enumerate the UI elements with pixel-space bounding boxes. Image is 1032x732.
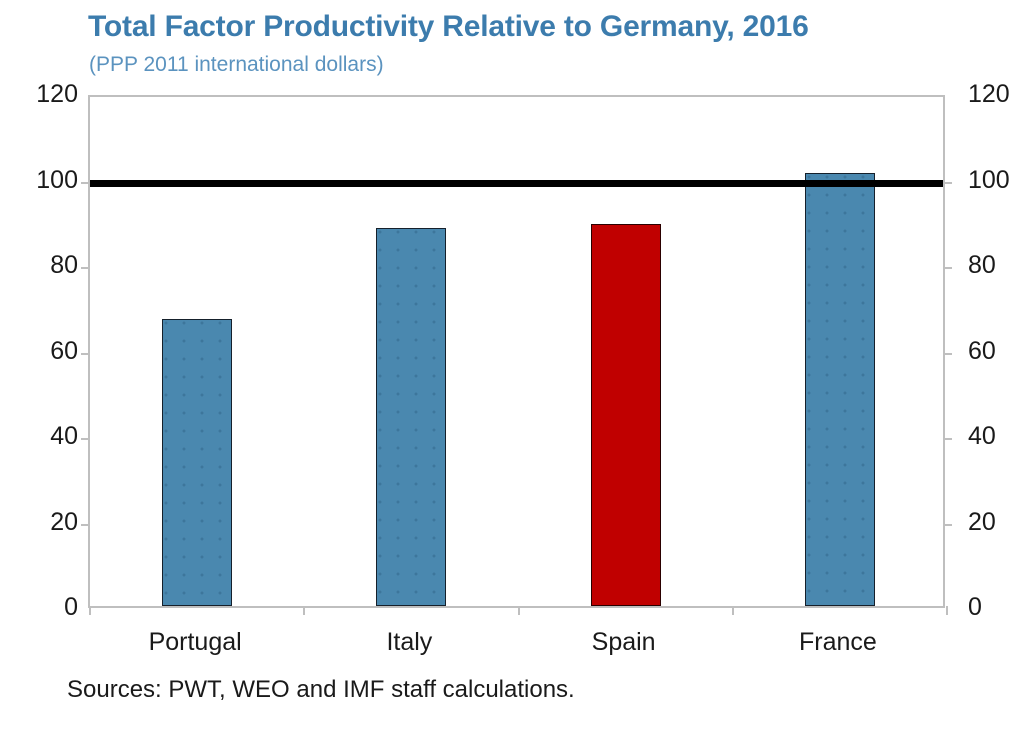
y-axis-tick-right <box>943 353 952 355</box>
y-axis-right: 020406080100120 <box>968 95 1032 608</box>
bar-france <box>805 173 875 606</box>
y-axis-tick-left <box>81 182 90 184</box>
x-tick-label-france: France <box>799 628 877 657</box>
x-axis-tick <box>89 606 91 615</box>
x-axis-tick <box>946 606 948 615</box>
y-axis-tick-right <box>943 182 952 184</box>
y-axis-tick-right <box>943 267 952 269</box>
y-tick-label-left-120: 120 <box>36 82 78 107</box>
y-axis-tick-left <box>81 524 90 526</box>
y-tick-label-left-80: 80 <box>50 253 78 278</box>
reference-line-100 <box>90 180 943 187</box>
x-tick-label-portugal: Portugal <box>149 628 242 657</box>
y-tick-label-right-120: 120 <box>968 82 1010 107</box>
plot-area <box>88 95 945 608</box>
y-axis-tick-right <box>943 524 952 526</box>
bar-portugal <box>162 319 232 606</box>
source-note: Sources: PWT, WEO and IMF staff calculat… <box>67 676 575 704</box>
y-tick-label-left-100: 100 <box>36 168 78 193</box>
plot-inner <box>90 97 943 606</box>
y-tick-label-right-20: 20 <box>968 510 996 535</box>
bar-spain <box>591 224 661 606</box>
x-tick-label-italy: Italy <box>386 628 432 657</box>
x-axis-tick <box>732 606 734 615</box>
y-axis-tick-left <box>81 353 90 355</box>
chart-subtitle: (PPP 2011 international dollars) <box>89 53 384 77</box>
y-tick-label-right-40: 40 <box>968 424 996 449</box>
y-tick-label-left-0: 0 <box>64 595 78 620</box>
y-tick-label-left-60: 60 <box>50 339 78 364</box>
y-axis-left: 020406080100120 <box>8 95 78 608</box>
x-axis-tick <box>303 606 305 615</box>
y-tick-label-left-40: 40 <box>50 424 78 449</box>
y-tick-label-right-80: 80 <box>968 253 996 278</box>
chart-figure: Total Factor Productivity Relative to Ge… <box>0 0 1032 732</box>
x-tick-label-spain: Spain <box>592 628 656 657</box>
y-axis-tick-right <box>943 438 952 440</box>
y-tick-label-right-60: 60 <box>968 339 996 364</box>
bar-italy <box>376 228 446 606</box>
y-tick-label-right-0: 0 <box>968 595 982 620</box>
y-tick-label-right-100: 100 <box>968 168 1010 193</box>
y-axis-tick-left <box>81 438 90 440</box>
y-tick-label-left-20: 20 <box>50 510 78 535</box>
chart-title: Total Factor Productivity Relative to Ge… <box>88 10 809 44</box>
y-axis-tick-left <box>81 267 90 269</box>
x-axis-tick <box>518 606 520 615</box>
